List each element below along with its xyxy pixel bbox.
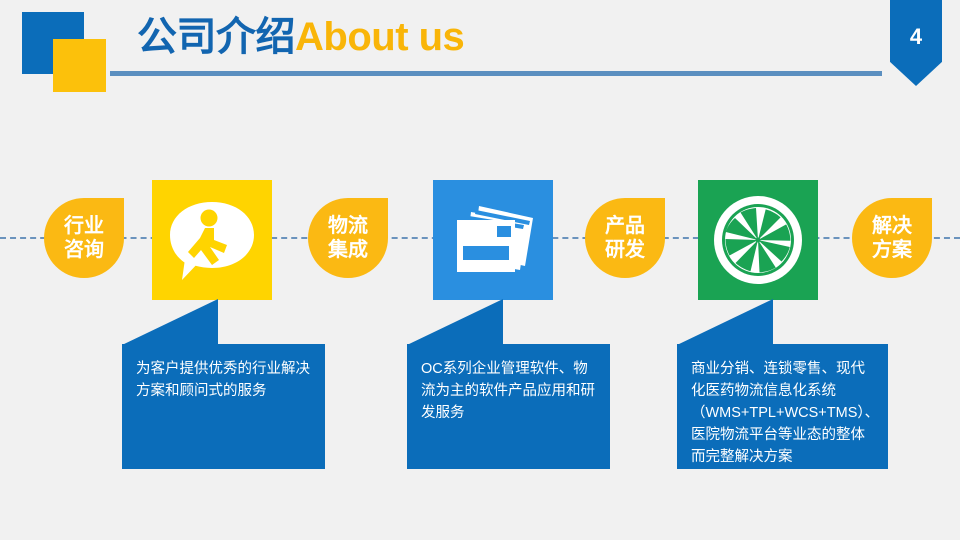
badge-label-line2: 集成	[328, 238, 368, 262]
stacked-mail-cards-icon	[445, 192, 541, 288]
badge-label-line1: 解决	[872, 214, 912, 238]
callout-tail-consulting	[122, 299, 218, 345]
page-number-label: 4	[890, 24, 942, 50]
icon-tile-product-rnd[interactable]	[698, 180, 818, 300]
process-badge-logistics-integration[interactable]: 物流 集成	[308, 198, 388, 278]
description-box-logistics: OC系列企业管理软件、物流为主的软件产品应用和研发服务	[407, 344, 610, 469]
description-box-product-rnd: 商业分销、连锁零售、现代化医药物流信息化系统（WMS+TPL+WCS+TMS）、…	[677, 344, 888, 469]
icon-tile-logistics[interactable]	[433, 180, 553, 300]
speech-bubble-person-icon	[164, 192, 260, 288]
badge-label-line1: 行业	[64, 214, 104, 238]
badge-label-line1: 产品	[605, 214, 645, 238]
badge-label-line1: 物流	[328, 214, 368, 238]
citrus-wheel-icon	[710, 192, 806, 288]
description-box-consulting: 为客户提供优秀的行业解决方案和顾问式的服务	[122, 344, 325, 469]
slide-canvas: 公司介绍About us 4 行业 咨询 物流 集成 产品 研发 解决 方案	[0, 0, 960, 540]
process-badge-industry-consulting[interactable]: 行业 咨询	[44, 198, 124, 278]
page-title-cn: 公司介绍	[137, 15, 295, 59]
logo-square-yellow-icon	[53, 39, 106, 92]
badge-label-line2: 方案	[872, 238, 912, 262]
page-title: 公司介绍About us	[137, 9, 464, 65]
icon-tile-consulting[interactable]	[152, 180, 272, 300]
page-title-en: About us	[295, 15, 464, 59]
callout-tail-logistics	[407, 299, 503, 345]
process-badge-product-rnd[interactable]: 产品 研发	[585, 198, 665, 278]
page-number-ribbon: 4	[890, 0, 942, 86]
badge-label-line2: 咨询	[64, 238, 104, 262]
title-divider	[110, 71, 882, 76]
callout-tail-product-rnd	[677, 299, 773, 345]
process-badge-solutions[interactable]: 解决 方案	[852, 198, 932, 278]
badge-label-line2: 研发	[605, 238, 645, 262]
